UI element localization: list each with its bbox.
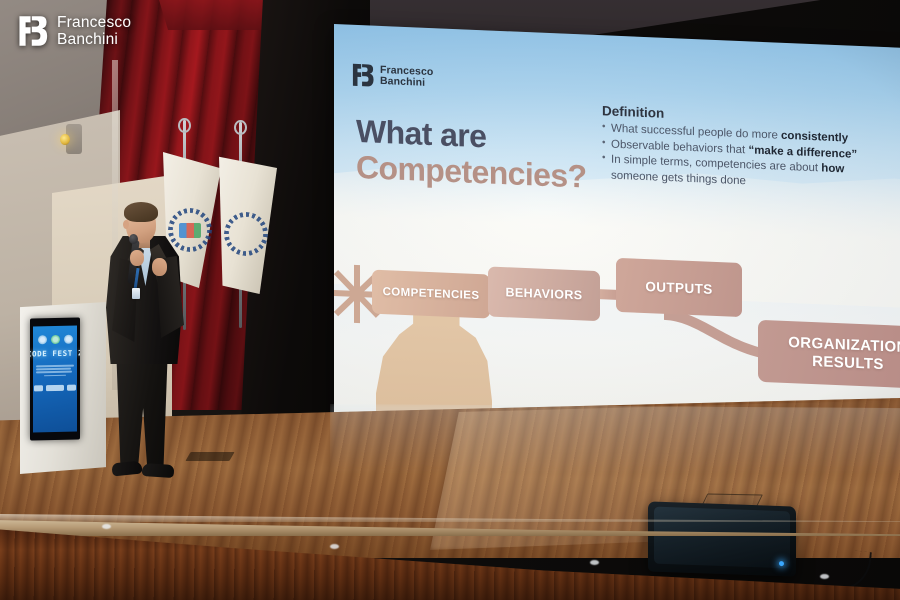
stage-edge-stud-2	[330, 544, 339, 549]
microphone-capsule-icon	[129, 234, 138, 244]
power-led-icon	[779, 561, 784, 566]
circle-emblem-icon-1	[38, 335, 47, 344]
flag-finial-icon-2	[234, 120, 247, 135]
name-badge-icon	[132, 288, 140, 299]
fb-monogram-icon	[18, 15, 48, 47]
flow-box-organization-results: ORGANIZATION RESULTS	[758, 320, 900, 390]
stage-monitor-speaker	[648, 501, 796, 576]
watermark-logo: Francesco Banchini	[18, 14, 131, 48]
kiosk-display-content: CODE FEST 2	[33, 326, 77, 433]
kiosk-badge-row	[38, 335, 73, 345]
flag-emblem-core-1	[179, 223, 201, 238]
stage-edge-stud-1	[102, 524, 111, 529]
flow-box-outputs: OUTPUTS	[616, 258, 742, 317]
speaker-hand-left	[130, 250, 144, 266]
bullet-2-strong: “make a difference”	[748, 144, 857, 161]
projection-screen: Francesco Banchini What are Competencies…	[334, 24, 900, 449]
national-emblem-icon-2	[224, 212, 268, 256]
definition-block: Definition What successful people do mor…	[602, 103, 900, 197]
floor-cable-plate-left	[185, 452, 234, 461]
kiosk-button-row	[34, 385, 76, 392]
speaker-ear	[123, 220, 129, 229]
speaker-hair	[124, 202, 158, 222]
watermark-line2: Banchini	[57, 31, 131, 48]
auditorium-scene: Francesco Banchini What are Competencies…	[0, 0, 900, 600]
slide-brand-text: Francesco Banchini	[380, 65, 433, 89]
flag-finial-icon-1	[178, 118, 191, 133]
leaf-emblem-icon	[51, 335, 60, 344]
slide-brand-logo: Francesco Banchini	[352, 63, 433, 90]
wall-lamp-icon	[60, 134, 70, 145]
speaker-hand-right	[152, 258, 167, 276]
speaker-shoe-right	[142, 463, 175, 478]
monitor-grill	[654, 507, 790, 569]
stage-edge-stud-3	[590, 560, 599, 565]
stage-edge-stud-4	[820, 574, 829, 579]
kiosk-description-text	[36, 365, 74, 377]
kiosk-date-chip	[46, 385, 64, 391]
definition-bullet-list: What successful people do more consisten…	[602, 121, 900, 196]
kiosk-display[interactable]: CODE FEST 2	[30, 317, 80, 440]
slide-title: What are Competencies?	[356, 113, 586, 195]
bullet-1-strong: consistently	[781, 130, 848, 145]
kiosk-badge-small	[34, 385, 43, 391]
watermark-line1: Francesco	[57, 14, 131, 31]
flow-box-behaviors: BEHAVIORS	[488, 266, 600, 321]
kiosk-event-title: CODE FEST 2	[30, 348, 80, 358]
fb-monogram-icon	[352, 63, 374, 88]
kiosk-badge-small-2	[67, 385, 76, 391]
flow-box-competencies: COMPETENCIES	[372, 270, 490, 319]
circle-emblem-icon-2	[64, 335, 73, 344]
bullet-3-strong: how	[821, 163, 844, 176]
flow-box-4-line2: RESULTS	[788, 352, 900, 375]
watermark-text: Francesco Banchini	[57, 14, 131, 48]
